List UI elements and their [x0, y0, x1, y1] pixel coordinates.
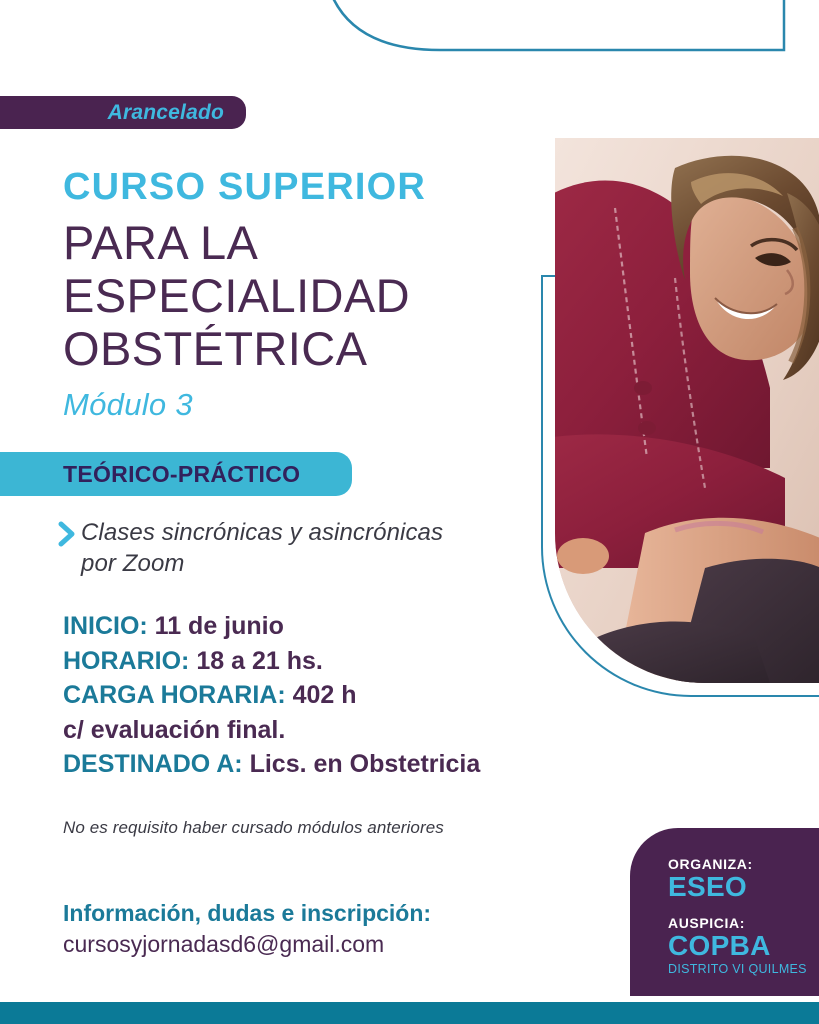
badge-arancelado-label: Arancelado	[108, 101, 224, 125]
course-details-list: INICIO: 11 de junio HORARIO: 18 a 21 hs.…	[63, 609, 563, 782]
top-right-outline-decoration	[320, 0, 819, 52]
detail-value-evaluacion: c/ evaluación final.	[63, 716, 285, 744]
chevron-right-icon	[57, 521, 77, 547]
contact-email[interactable]: cursosyjornadasd6@gmail.com	[63, 931, 431, 958]
auspicia-sublabel: DISTRITO VI QUILMES	[668, 962, 819, 976]
organizer-badge: ORGANIZA: ESEO AUSPICIA: COPBA DISTRITO …	[630, 828, 819, 996]
page-title-line-1: PARA LA	[63, 216, 533, 269]
bullet-modality-line-2: por Zoom	[81, 550, 185, 577]
eyebrow-heading: CURSO SUPERIOR	[63, 168, 426, 206]
detail-label-destinado-a: DESTINADO A:	[63, 750, 243, 778]
detail-row-carga-horaria: CARGA HORARIA: 402 h	[63, 678, 563, 713]
bottom-accent-bar	[0, 1002, 819, 1024]
photo-obstetra	[555, 138, 819, 683]
flyer-canvas: Arancelado CURSO SUPERIOR PARA LA ESPECI…	[0, 0, 819, 1024]
detail-value-inicio: 11 de junio	[155, 612, 284, 640]
organiza-label: ORGANIZA:	[668, 856, 819, 872]
page-title: PARA LA ESPECIALIDAD OBSTÉTRICA	[63, 216, 533, 375]
detail-value-destinado-a: Lics. en Obstetricia	[250, 750, 481, 778]
detail-row-inicio: INICIO: 11 de junio	[63, 609, 563, 644]
auspicia-block: AUSPICIA: COPBA DISTRITO VI QUILMES	[668, 915, 819, 975]
page-title-line-2: ESPECIALIDAD	[63, 269, 533, 322]
detail-value-carga-horaria: 402 h	[293, 681, 357, 709]
module-subtitle: Módulo 3	[63, 387, 193, 423]
badge-arancelado: Arancelado	[0, 96, 246, 129]
contact-title: Información, dudas e inscripción:	[63, 900, 431, 927]
detail-label-horario: HORARIO:	[63, 647, 189, 675]
banner-teorico-practico-label: TEÓRICO-PRÁCTICO	[63, 461, 300, 488]
detail-row-evaluacion: c/ evaluación final.	[63, 713, 563, 748]
detail-label-inicio: INICIO:	[63, 612, 148, 640]
detail-label-carga-horaria: CARGA HORARIA:	[63, 681, 286, 709]
contact-block: Información, dudas e inscripción: cursos…	[63, 900, 431, 958]
auspicia-label: AUSPICIA:	[668, 915, 819, 931]
page-title-line-3: OBSTÉTRICA	[63, 322, 533, 375]
organiza-value: ESEO	[668, 872, 819, 901]
bullet-modality: Clases sincrónicas y asincrónicas por Zo…	[57, 517, 527, 579]
bullet-modality-text: Clases sincrónicas y asincrónicas por Zo…	[81, 517, 443, 579]
banner-teorico-practico: TEÓRICO-PRÁCTICO	[0, 452, 352, 496]
bullet-modality-line-1: Clases sincrónicas y asincrónicas	[81, 519, 443, 546]
detail-row-horario: HORARIO: 18 a 21 hs.	[63, 644, 563, 679]
detail-row-destinado-a: DESTINADO A: Lics. en Obstetricia	[63, 747, 563, 782]
detail-value-horario: 18 a 21 hs.	[196, 647, 322, 675]
prerequisite-note: No es requisito haber cursado módulos an…	[63, 818, 444, 838]
auspicia-value: COPBA	[668, 931, 819, 960]
